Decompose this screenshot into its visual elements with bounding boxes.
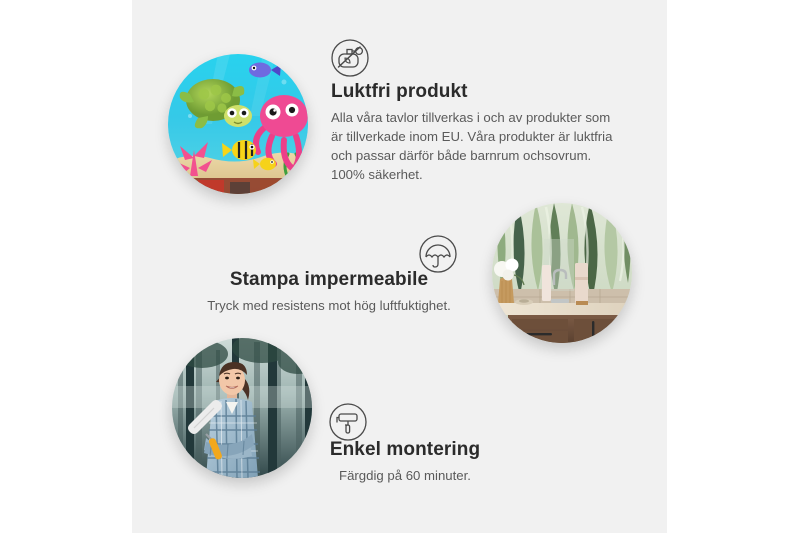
feature-title: Enkel montering — [290, 438, 520, 462]
feature-text-easy-mounting: Enkel montering Färgdig på 60 minuter. — [290, 438, 520, 485]
feature-text-waterproof: Stampa impermeabile Tryck med resistens … — [186, 268, 472, 315]
bathroom-botanical-photo — [492, 203, 632, 343]
feature-description: Färgdig på 60 minuter. — [290, 466, 520, 485]
product-feature-infographic: Luktfri produkt Alla våra tavlor tillver… — [0, 0, 800, 533]
feature-description: Tryck med resistens mot hög luftfuktighe… — [186, 296, 472, 315]
feature-title: Luktfri produkt — [331, 80, 621, 104]
feature-title: Stampa impermeabile — [186, 268, 472, 292]
underwater-cartoon-photo — [168, 54, 308, 194]
no-fragrance-icon — [330, 38, 370, 78]
feature-text-odourless: Luktfri produkt Alla våra tavlor tillver… — [331, 80, 621, 184]
paint-roller-icon — [328, 402, 368, 442]
feature-description: Alla våra tavlor tillverkas i och av pro… — [331, 108, 621, 185]
